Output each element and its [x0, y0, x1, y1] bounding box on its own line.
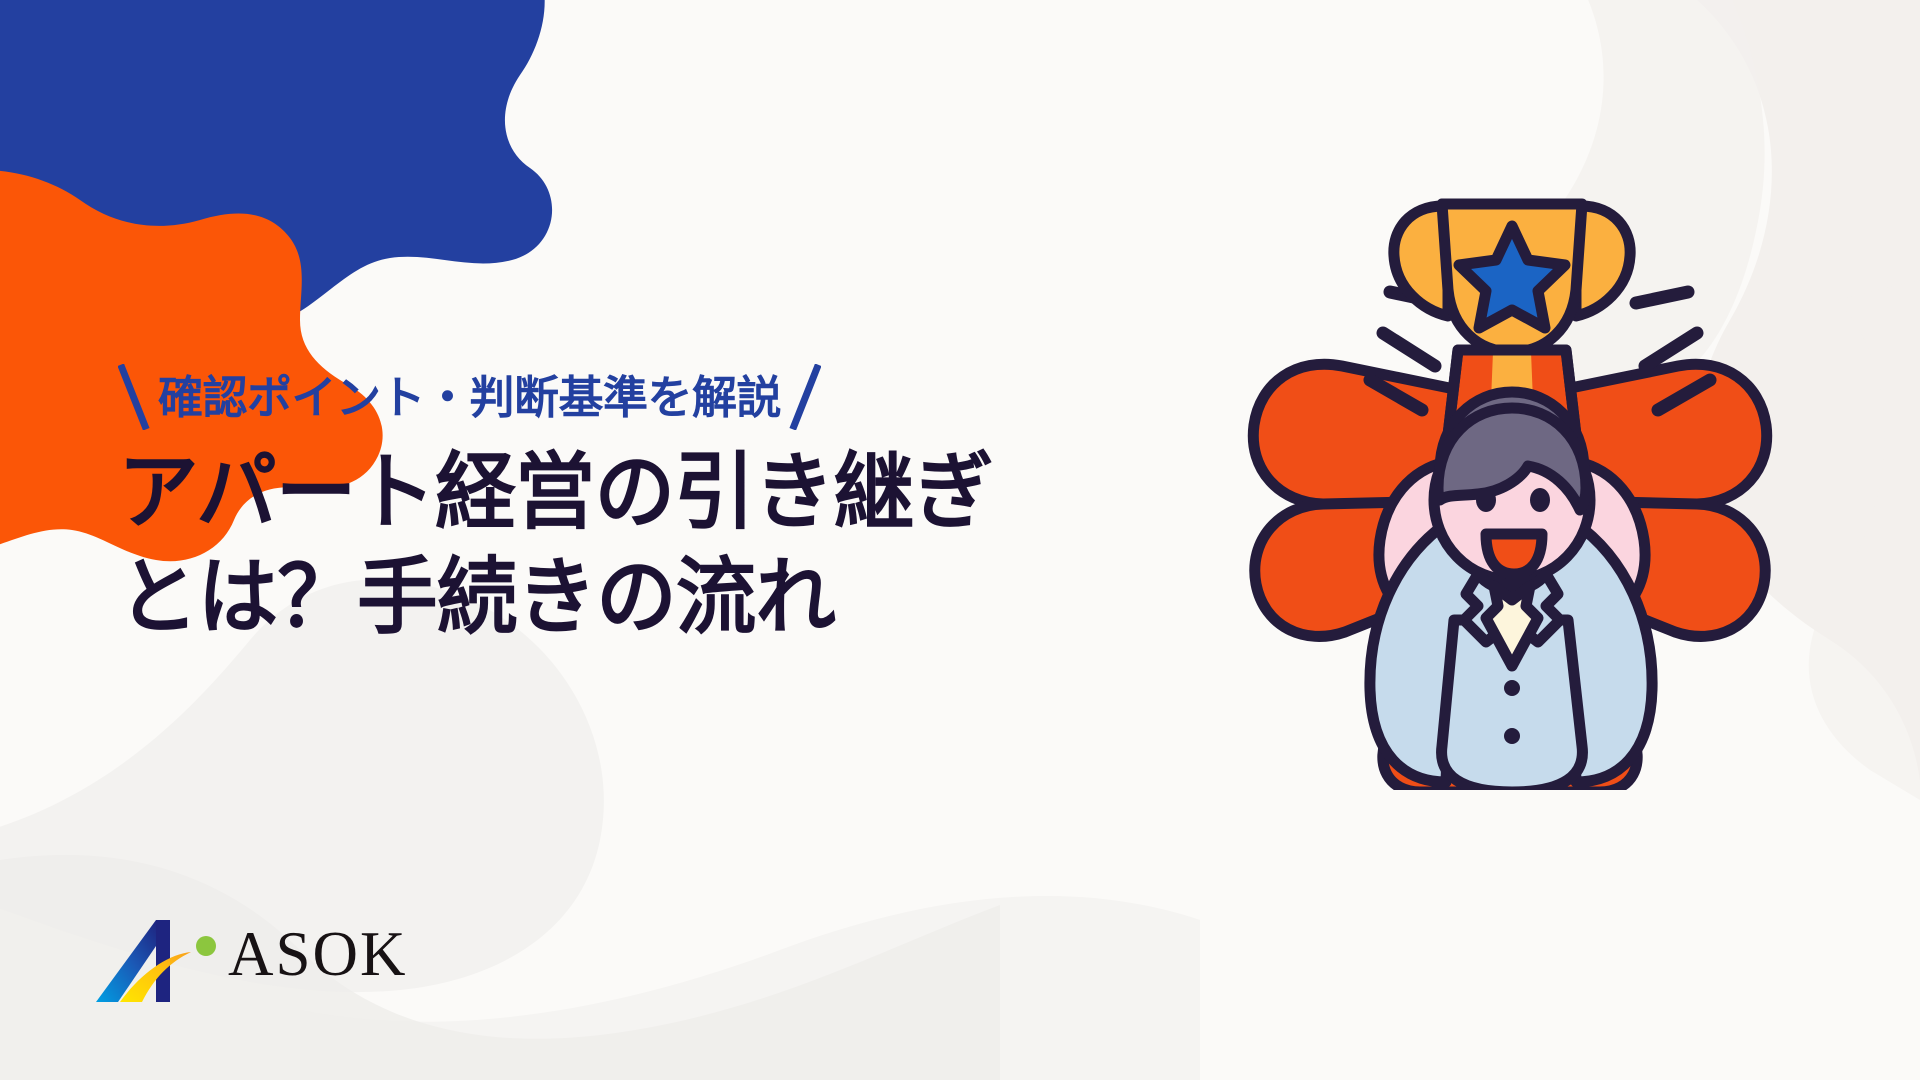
slash-right-icon: [787, 364, 821, 430]
suit-button-bottom: [1504, 728, 1520, 744]
character-eye-left: [1476, 488, 1496, 512]
headline-block: 確認ポイント・判断基準を解説 アパート経営の引き継ぎ とは？手続きの流れ: [118, 360, 1178, 650]
suit-button-top: [1504, 680, 1520, 696]
character-eye-right: [1530, 488, 1550, 512]
asok-logo[interactable]: ASOK: [96, 902, 408, 1010]
illustration-businessman-trophy: [1190, 170, 1830, 790]
green-dot-icon: [196, 936, 216, 956]
asok-a-mark-icon: [96, 902, 224, 1010]
slash-left-icon: [118, 364, 152, 430]
eyebrow-row: 確認ポイント・判断基準を解説: [118, 360, 1178, 434]
title-line-1: アパート経営の引き継ぎ: [118, 440, 1136, 545]
title-line-2: とは？手続きの流れ: [118, 545, 1136, 650]
eyebrow-text: 確認ポイント・判断基準を解説: [152, 375, 787, 420]
asok-wordmark: ASOK: [228, 923, 408, 986]
banner-canvas: 確認ポイント・判断基準を解説 アパート経営の引き継ぎ とは？手続きの流れ: [0, 0, 1920, 1080]
character-mouth: [1486, 534, 1542, 574]
